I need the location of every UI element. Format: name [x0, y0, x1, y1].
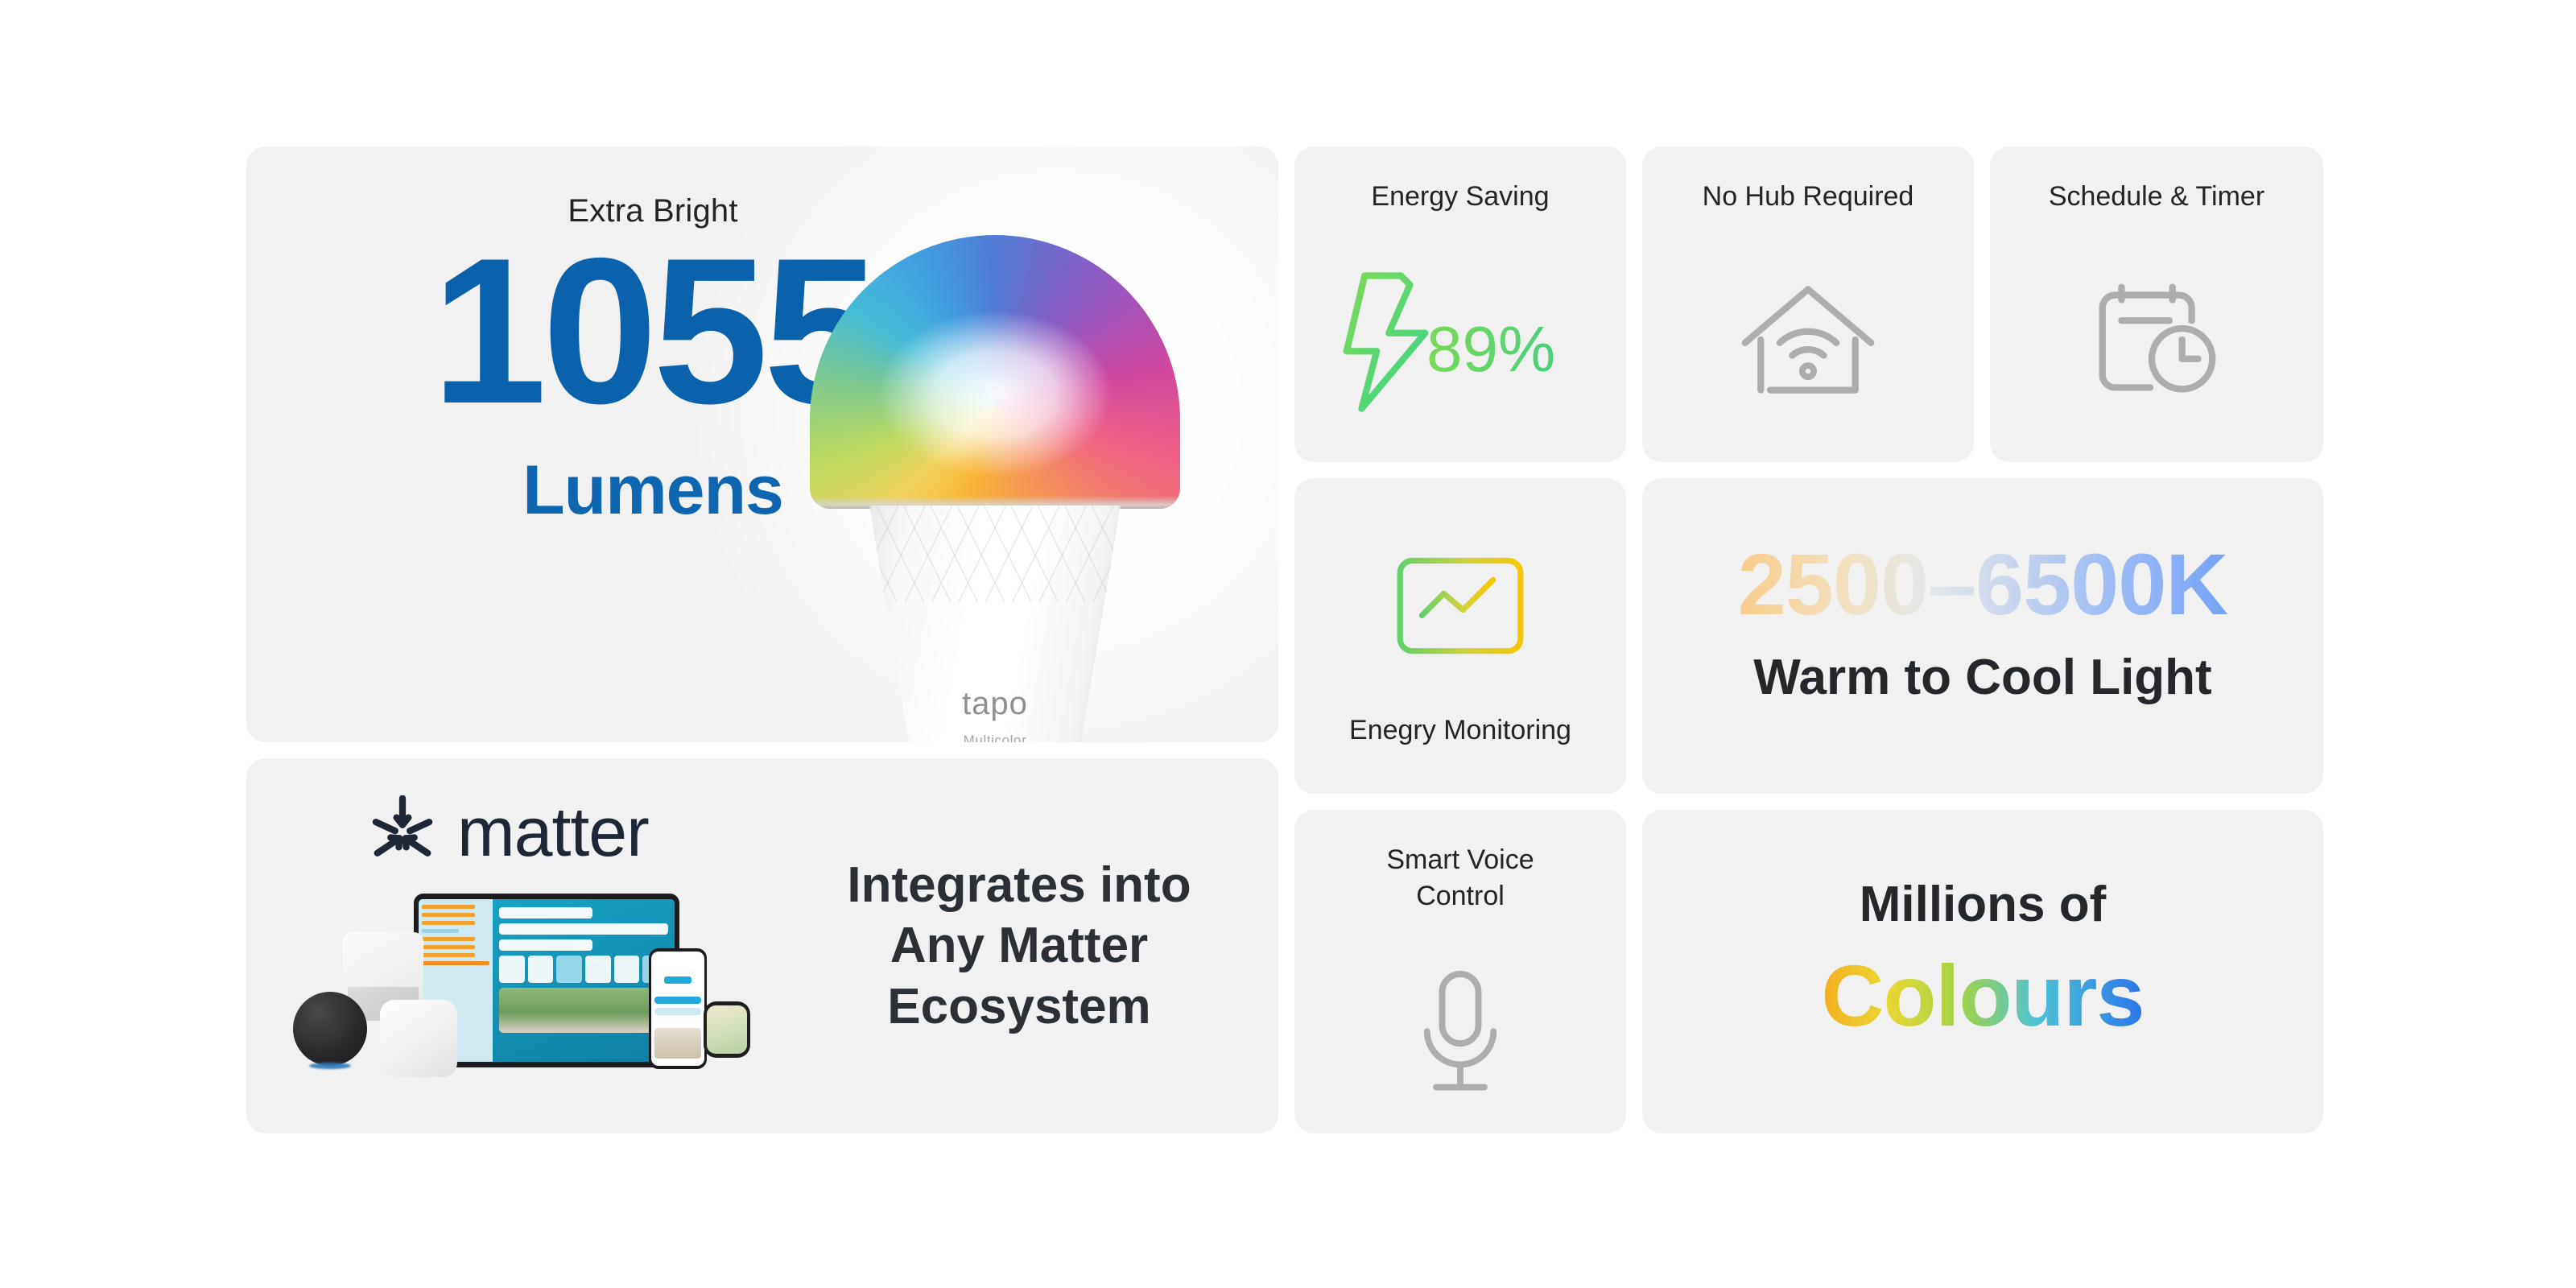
chart-monitor-icon — [1392, 552, 1529, 665]
energy-saving-icon-area: 89% — [1331, 266, 1589, 419]
voice-control-title-line-1: Smart Voice — [1309, 842, 1612, 878]
colours-word: Colours — [1642, 948, 2323, 1044]
energy-monitoring-title: Enegry Monitoring — [1294, 712, 1626, 749]
smart-home-devices-photo — [285, 879, 768, 1113]
calendar-clock-icon — [2080, 275, 2233, 404]
schedule-timer-icon-area — [2072, 267, 2241, 412]
schedule-timer-title: Schedule & Timer — [1990, 179, 2323, 215]
matter-ecosystem-card: matter — [246, 758, 1278, 1133]
infographic-canvas: Extra Bright 1055 Lumens tapo Multicolor — [0, 0, 2576, 1288]
color-temperature-range: 2500–6500K — [1642, 541, 2323, 628]
feature-card-millions-of-colours: Millions of Colours — [1642, 810, 2323, 1133]
voice-control-title: Smart Voice Control — [1294, 842, 1626, 914]
matter-visual-column: matter — [266, 758, 781, 1133]
feature-card-no-hub: No Hub Required — [1642, 147, 1974, 462]
microphone-icon — [1412, 964, 1509, 1101]
hero-brightness-card: Extra Bright 1055 Lumens tapo Multicolor — [246, 147, 1278, 742]
bulb-rgb-dome — [810, 235, 1180, 509]
feature-card-energy-saving: Energy Saving 89% — [1294, 147, 1626, 462]
voice-control-title-line-2: Control — [1309, 878, 1612, 914]
feature-card-energy-monitoring: Enegry Monitoring — [1294, 478, 1626, 794]
bulb-variant-label: Multicolor — [810, 733, 1180, 742]
energy-saving-value: 89% — [1426, 317, 1555, 382]
feature-card-voice-control: Smart Voice Control — [1294, 810, 1626, 1133]
voice-control-icon-area — [1392, 956, 1529, 1109]
smart-bulb-image: tapo Multicolor — [810, 235, 1180, 742]
no-hub-icon-area — [1724, 267, 1893, 412]
color-temperature-caption: Warm to Cool Light — [1642, 649, 2323, 706]
matter-headline-line-1: Integrates into — [847, 855, 1191, 916]
matter-headline-column: Integrates into Any Matter Ecosystem — [778, 758, 1261, 1133]
device-smartwatch — [704, 1001, 750, 1058]
bulb-facet-texture — [869, 506, 1121, 602]
matter-wordmark: matter — [457, 798, 649, 867]
tablet-content — [493, 899, 675, 1062]
device-echo-dot — [293, 992, 367, 1066]
matter-headline-line-3: Ecosystem — [847, 976, 1191, 1038]
house-wifi-icon — [1736, 275, 1880, 404]
matter-logo: matter — [365, 795, 649, 869]
bulb-brand-label: tapo — [810, 686, 1180, 722]
energy-monitoring-icon-area — [1380, 544, 1541, 673]
energy-saving-title: Energy Saving — [1294, 179, 1626, 215]
matter-headline: Integrates into Any Matter Ecosystem — [847, 855, 1191, 1038]
no-hub-title: No Hub Required — [1642, 179, 1974, 215]
hero-clip: Extra Bright 1055 Lumens tapo Multicolor — [246, 147, 1278, 742]
feature-card-schedule-timer: Schedule & Timer — [1990, 147, 2323, 462]
matter-headline-line-2: Any Matter — [847, 915, 1191, 976]
matter-mark-icon — [365, 795, 440, 869]
device-hub — [380, 1000, 457, 1077]
colours-prefix: Millions of — [1642, 876, 2323, 933]
device-smartphone — [649, 948, 707, 1069]
feature-card-color-temperature: 2500–6500K Warm to Cool Light — [1642, 478, 2323, 794]
